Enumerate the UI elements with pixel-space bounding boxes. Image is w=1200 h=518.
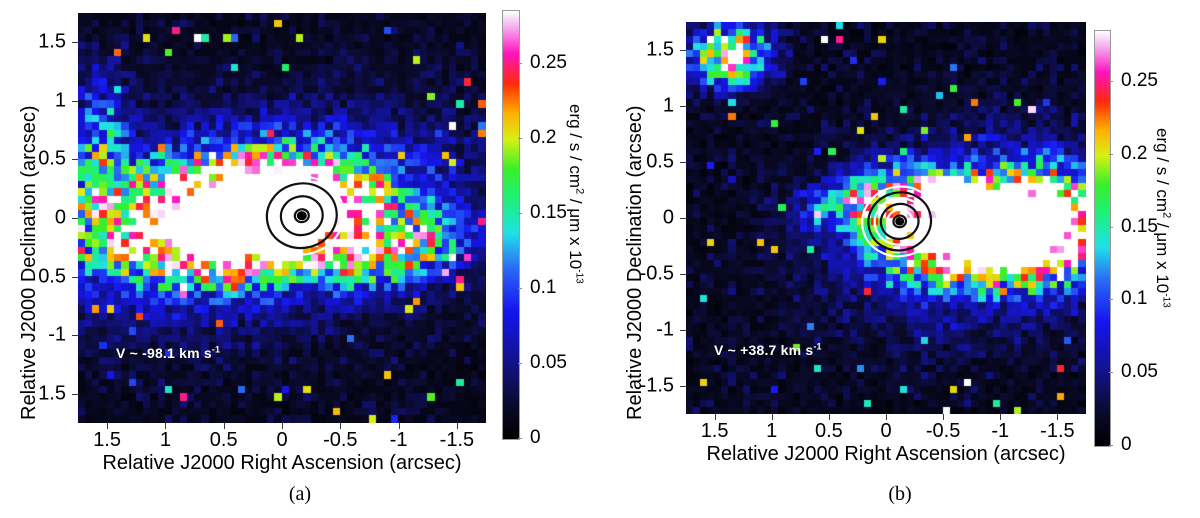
colorbar-tick-label: 0.25 xyxy=(530,52,567,74)
colorbar-tick-mark xyxy=(518,63,522,64)
velocity-label-a: V ~ -98.1 km s-1 xyxy=(116,345,220,361)
yaxis-title-b: Relative J2000 Declination (arcsec) xyxy=(624,105,647,420)
xaxis-title-b: Relative J2000 Right Ascension (arcsec) xyxy=(706,443,1065,466)
panel-b: V ~ +38.7 km s-1 1.510.50-0.5-1-1.51.510… xyxy=(600,0,1200,518)
xtick-label: -1 xyxy=(991,420,1009,443)
ytick-mark xyxy=(680,106,686,107)
velocity-text-a: V ~ -98.1 km s xyxy=(116,345,212,361)
xtick-label: 1.5 xyxy=(701,420,729,443)
colorbar-tick-mark xyxy=(1109,372,1113,373)
xtick-label: -1 xyxy=(390,429,408,452)
colorbar-tick-label: 0.15 xyxy=(530,202,567,224)
ytick-mark xyxy=(680,162,686,163)
colorbar-unit-exp-b: -13 xyxy=(1161,293,1172,307)
colorbar-tick-mark xyxy=(1109,445,1113,446)
ytick-mark xyxy=(72,277,78,278)
colorbar-unit-mid-b: / μm x 10 xyxy=(1153,218,1172,293)
colorbar-tick-mark xyxy=(518,288,522,289)
colorbar-tick-label: 0.2 xyxy=(1121,143,1147,165)
panel-a: V ~ -98.1 km s-1 1.510.500.5-11.51.510.5… xyxy=(0,0,600,518)
yaxis-title-a: Relative J2000 Declination (arcsec) xyxy=(18,105,41,420)
colorbar-title-b: erg / s / cm2 / μm x 10-13 xyxy=(1152,128,1172,308)
ytick-mark xyxy=(72,42,78,43)
colorbar-tick-mark xyxy=(1109,227,1113,228)
xtick-label: 0 xyxy=(880,420,891,443)
colorbar-unit-b: erg / s / cm xyxy=(1153,128,1172,212)
colorbar-tick-mark xyxy=(518,138,522,139)
xaxis-title-a: Relative J2000 Right Ascension (arcsec) xyxy=(102,452,461,475)
colorbar-tick-mark xyxy=(518,438,522,439)
ytick-mark xyxy=(680,218,686,219)
ytick-mark xyxy=(72,218,78,219)
xtick-label: -0.5 xyxy=(323,429,357,452)
colorbar-gradient-b xyxy=(1095,31,1110,446)
colorbar-tick-mark xyxy=(1109,154,1113,155)
ytick-mark xyxy=(680,386,686,387)
ytick-mark xyxy=(680,330,686,331)
ytick-mark xyxy=(680,274,686,275)
colorbar-unit-exp-a: -13 xyxy=(574,269,585,283)
colorbar-tick-mark xyxy=(1109,299,1113,300)
xtick-label: -1.5 xyxy=(1040,420,1074,443)
colorbar-tick-mark xyxy=(518,363,522,364)
figure-root: V ~ -98.1 km s-1 1.510.500.5-11.51.510.5… xyxy=(0,0,1200,518)
subcaption-a: (a) xyxy=(0,483,600,506)
velocity-label-b: V ~ +38.7 km s-1 xyxy=(714,342,822,358)
xtick-label: 1 xyxy=(766,420,777,443)
colorbar-tick-label: 0.1 xyxy=(530,277,556,299)
ytick-mark xyxy=(72,101,78,102)
ytick-mark xyxy=(72,335,78,336)
xtick-label: -1.5 xyxy=(440,429,474,452)
xtick-label: 0.5 xyxy=(210,429,238,452)
colorbar-tick-mark xyxy=(518,213,522,214)
colorbar-gradient-a xyxy=(503,11,519,439)
colorbar-tick-label: 0.2 xyxy=(530,127,556,149)
velocity-text-b: V ~ +38.7 km s xyxy=(714,342,813,358)
ytick-mark xyxy=(72,394,78,395)
colorbar-unit-mid-a: / μm x 10 xyxy=(566,194,585,269)
colorbar-b[interactable] xyxy=(1094,30,1111,447)
xtick-label: 0 xyxy=(276,429,287,452)
ytick-label: 1.5 xyxy=(616,39,674,62)
colorbar-tick-mark xyxy=(1109,81,1113,82)
map-area-a[interactable]: V ~ -98.1 km s-1 xyxy=(78,13,486,423)
colorbar-title-a: erg / s / cm2 / μm x 10-13 xyxy=(565,104,585,284)
subcaption-b: (b) xyxy=(600,483,1200,506)
map-area-b[interactable]: V ~ +38.7 km s-1 xyxy=(686,22,1086,414)
colorbar-tick-label: 0 xyxy=(1121,434,1132,456)
colorbar-tick-label: 0 xyxy=(530,427,541,449)
velocity-exponent-a: -1 xyxy=(212,344,220,354)
ytick-mark xyxy=(680,50,686,51)
colorbar-tick-label: 0.05 xyxy=(530,352,567,374)
ytick-label: 1.5 xyxy=(8,31,66,54)
colorbar-unit-a: erg / s / cm xyxy=(566,104,585,188)
colorbar-tick-label: 0.1 xyxy=(1121,288,1147,310)
xtick-label: 0.5 xyxy=(815,420,843,443)
velocity-exponent-b: -1 xyxy=(813,341,821,351)
xtick-label: 1 xyxy=(160,429,171,452)
colorbar-a[interactable] xyxy=(502,10,520,440)
xtick-label: -0.5 xyxy=(926,420,960,443)
emission-map-a xyxy=(78,13,486,423)
colorbar-tick-label: 0.25 xyxy=(1121,70,1158,92)
colorbar-tick-label: 0.05 xyxy=(1121,361,1158,383)
ytick-mark xyxy=(72,159,78,160)
xtick-label: 1.5 xyxy=(93,429,121,452)
